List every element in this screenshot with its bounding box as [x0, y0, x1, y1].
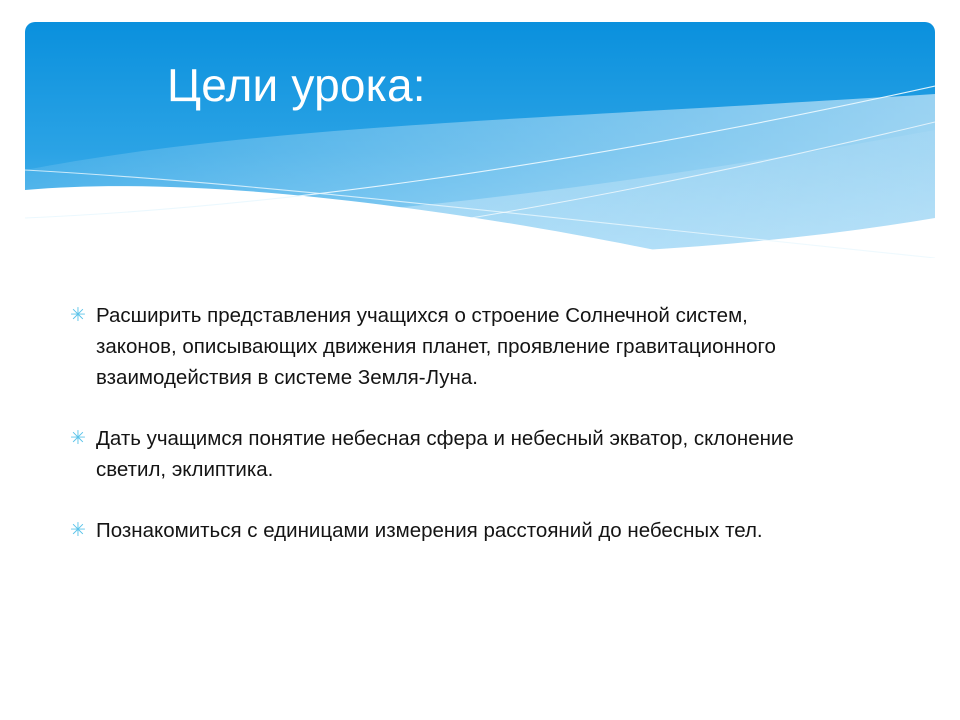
objectives-list: ✳ Расширить представления учащихся о стр…: [66, 300, 806, 546]
banner-wave-graphic: [25, 22, 935, 258]
list-item: ✳ Дать учащимся понятие небесная сфера и…: [66, 423, 806, 485]
list-item: ✳ Познакомиться с единицами измерения ра…: [66, 515, 806, 546]
list-item-text: Познакомиться с единицами измерения расс…: [96, 515, 806, 546]
asterisk-bullet-icon: ✳: [68, 515, 88, 546]
list-item: ✳ Расширить представления учащихся о стр…: [66, 300, 806, 393]
list-item-text: Дать учащимся понятие небесная сфера и н…: [96, 423, 806, 485]
list-item-text: Расширить представления учащихся о строе…: [96, 300, 806, 393]
slide: Цели урока: ✳ Расширить представления уч…: [0, 0, 960, 720]
page-title: Цели урока:: [167, 60, 867, 112]
header-banner: Цели урока:: [25, 22, 935, 258]
asterisk-bullet-icon: ✳: [68, 423, 88, 454]
asterisk-bullet-icon: ✳: [68, 300, 88, 331]
